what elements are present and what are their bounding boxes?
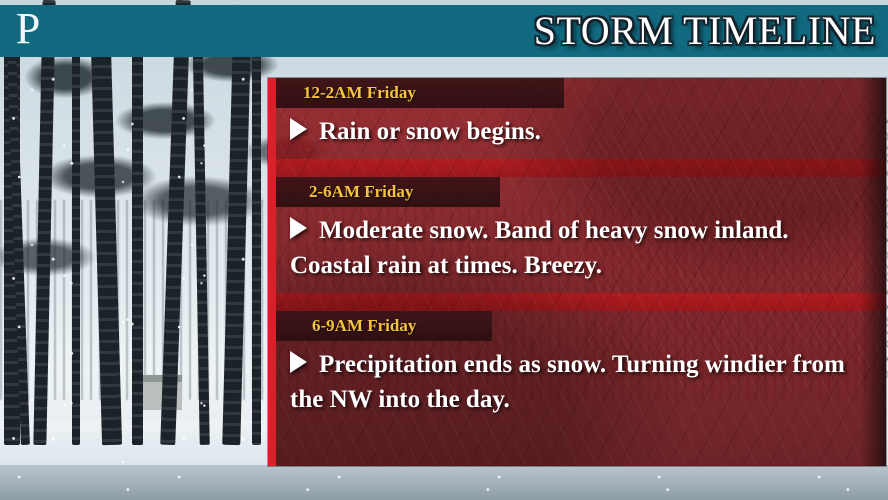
- time-label-row: 12-2AM Friday: [276, 78, 886, 108]
- page-title: STORM TIMELINE: [534, 11, 888, 51]
- forecast-text-row: Precipitation ends as snow. Turning wind…: [276, 341, 886, 427]
- triangle-right-bullet-icon: [290, 217, 307, 239]
- triangle-right-bullet-icon: [290, 118, 307, 140]
- station-logo: P: [0, 5, 56, 57]
- time-label: 2-6AM Friday: [309, 181, 413, 203]
- time-label: 12-2AM Friday: [303, 82, 416, 104]
- timeline-block-3: 6-9AM Friday Precipitation ends as snow.…: [276, 311, 886, 427]
- forecast-text-row: Moderate snow. Band of heavy snow inland…: [276, 207, 886, 293]
- forecast-text-row: Rain or snow begins.: [276, 108, 886, 159]
- timeline-block-1: 12-2AM Friday Rain or snow begins.: [276, 78, 886, 159]
- forecast-text: Rain or snow begins.: [319, 118, 541, 145]
- block-separator: [276, 293, 886, 311]
- block-separator: [276, 159, 886, 177]
- time-label: 6-9AM Friday: [312, 315, 416, 337]
- header-bar: P STORM TIMELINE: [0, 5, 888, 57]
- timeline-block-2: 2-6AM Friday Moderate snow. Band of heav…: [276, 177, 886, 293]
- triangle-right-bullet-icon: [290, 351, 307, 373]
- time-label-row: 2-6AM Friday: [276, 177, 886, 207]
- timeline-panel: 12-2AM Friday Rain or snow begins. 2-6AM…: [268, 78, 886, 466]
- time-label-row: 6-9AM Friday: [276, 311, 886, 341]
- forecast-text: Precipitation ends as snow. Turning wind…: [290, 351, 845, 413]
- storm-timeline-graphic: P STORM TIMELINE 12-2AM Friday Rain or s…: [0, 0, 888, 500]
- forecast-text: Moderate snow. Band of heavy snow inland…: [290, 217, 789, 279]
